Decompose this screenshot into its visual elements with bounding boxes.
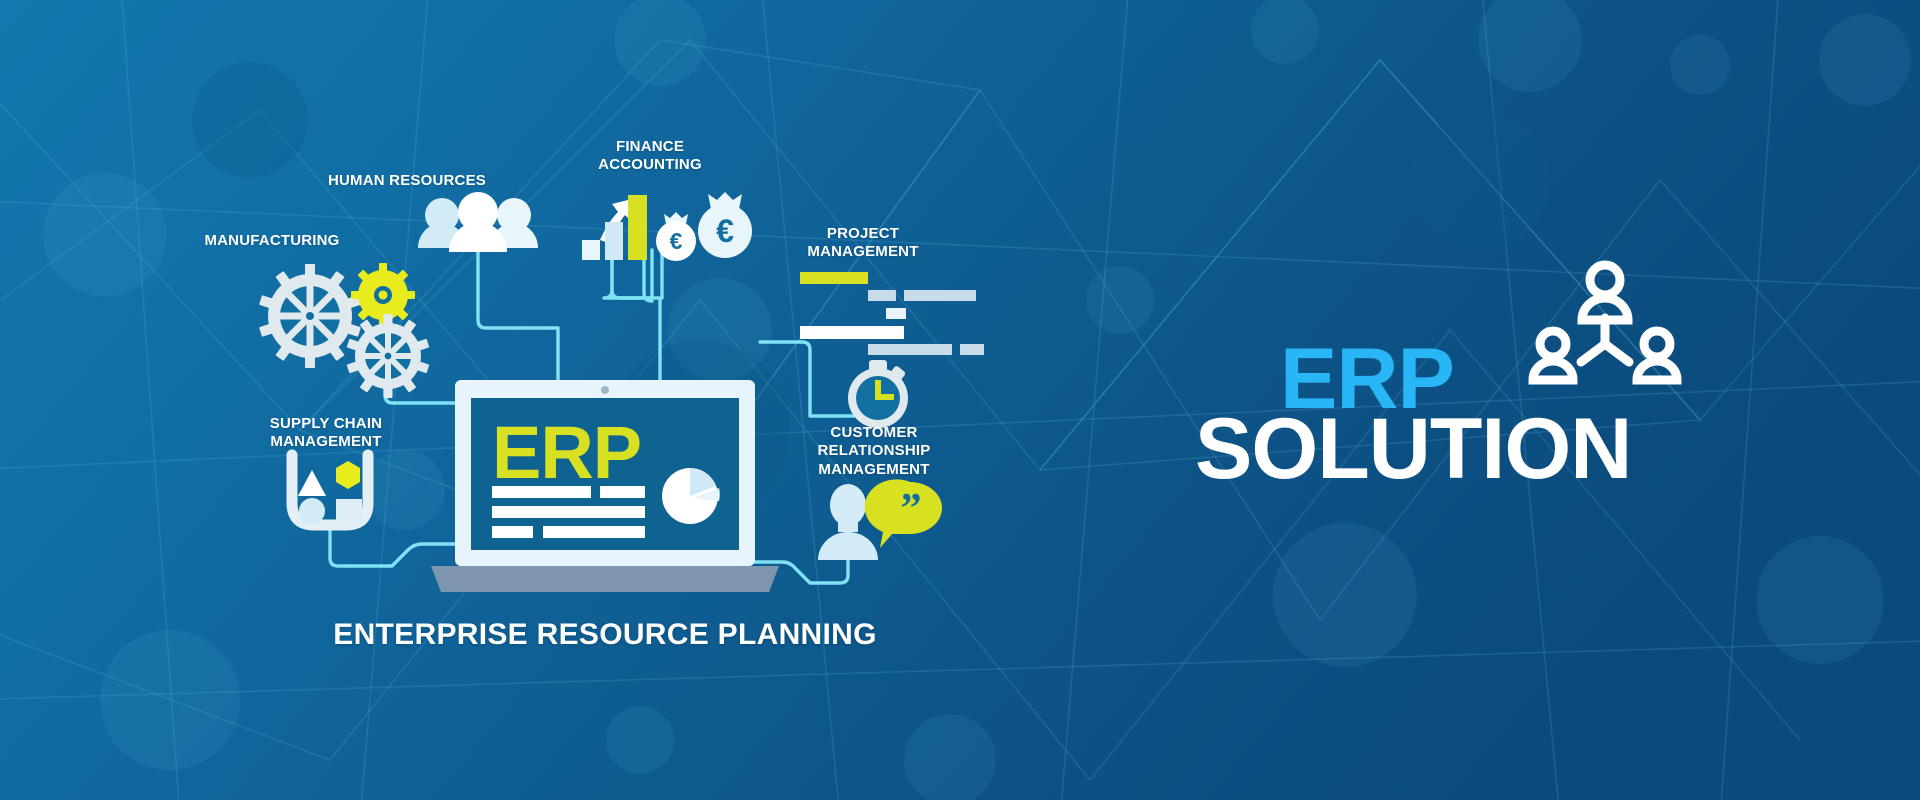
diagram-caption: ENTERPRISE RESOURCE PLANNING: [310, 618, 900, 652]
label-manufacturing: MANUFACTURING: [172, 232, 372, 250]
basket-shapes-icon: [292, 455, 368, 525]
label-human-resources: HUMAN RESOURCES: [307, 172, 507, 190]
label-supply-chain-management: SUPPLY CHAIN MANAGEMENT: [236, 415, 416, 452]
headline-solution: SOLUTION: [1195, 406, 1631, 492]
connector-project-management: [760, 342, 862, 416]
label-finance-accounting: FINANCE ACCOUNTING: [560, 138, 740, 175]
three-people-network-icon: [1525, 258, 1685, 398]
user-speech-bubble-icon: ”: [818, 479, 942, 560]
label-customer-relationship-management: CUSTOMER RELATIONSHIP MANAGEMENT: [784, 424, 964, 479]
svg-text:€: €: [670, 228, 683, 254]
bar-chart-money-bags-icon: € €: [582, 192, 752, 261]
connector-supply-chain: [330, 528, 455, 566]
gantt-stopwatch-icon: [800, 272, 984, 428]
laptop-screen-erp-text: ERP: [492, 411, 641, 494]
laptop: ERP: [431, 380, 779, 592]
erp-solution-banner: € €: [0, 0, 1920, 800]
laptop-base: [431, 566, 779, 592]
gears-icon: [259, 263, 429, 398]
svg-text:€: €: [716, 213, 734, 249]
connector-hr: [478, 247, 558, 385]
people-group-icon: [418, 192, 538, 252]
label-project-management: PROJECT MANAGEMENT: [773, 225, 953, 262]
svg-text:”: ”: [901, 486, 922, 532]
